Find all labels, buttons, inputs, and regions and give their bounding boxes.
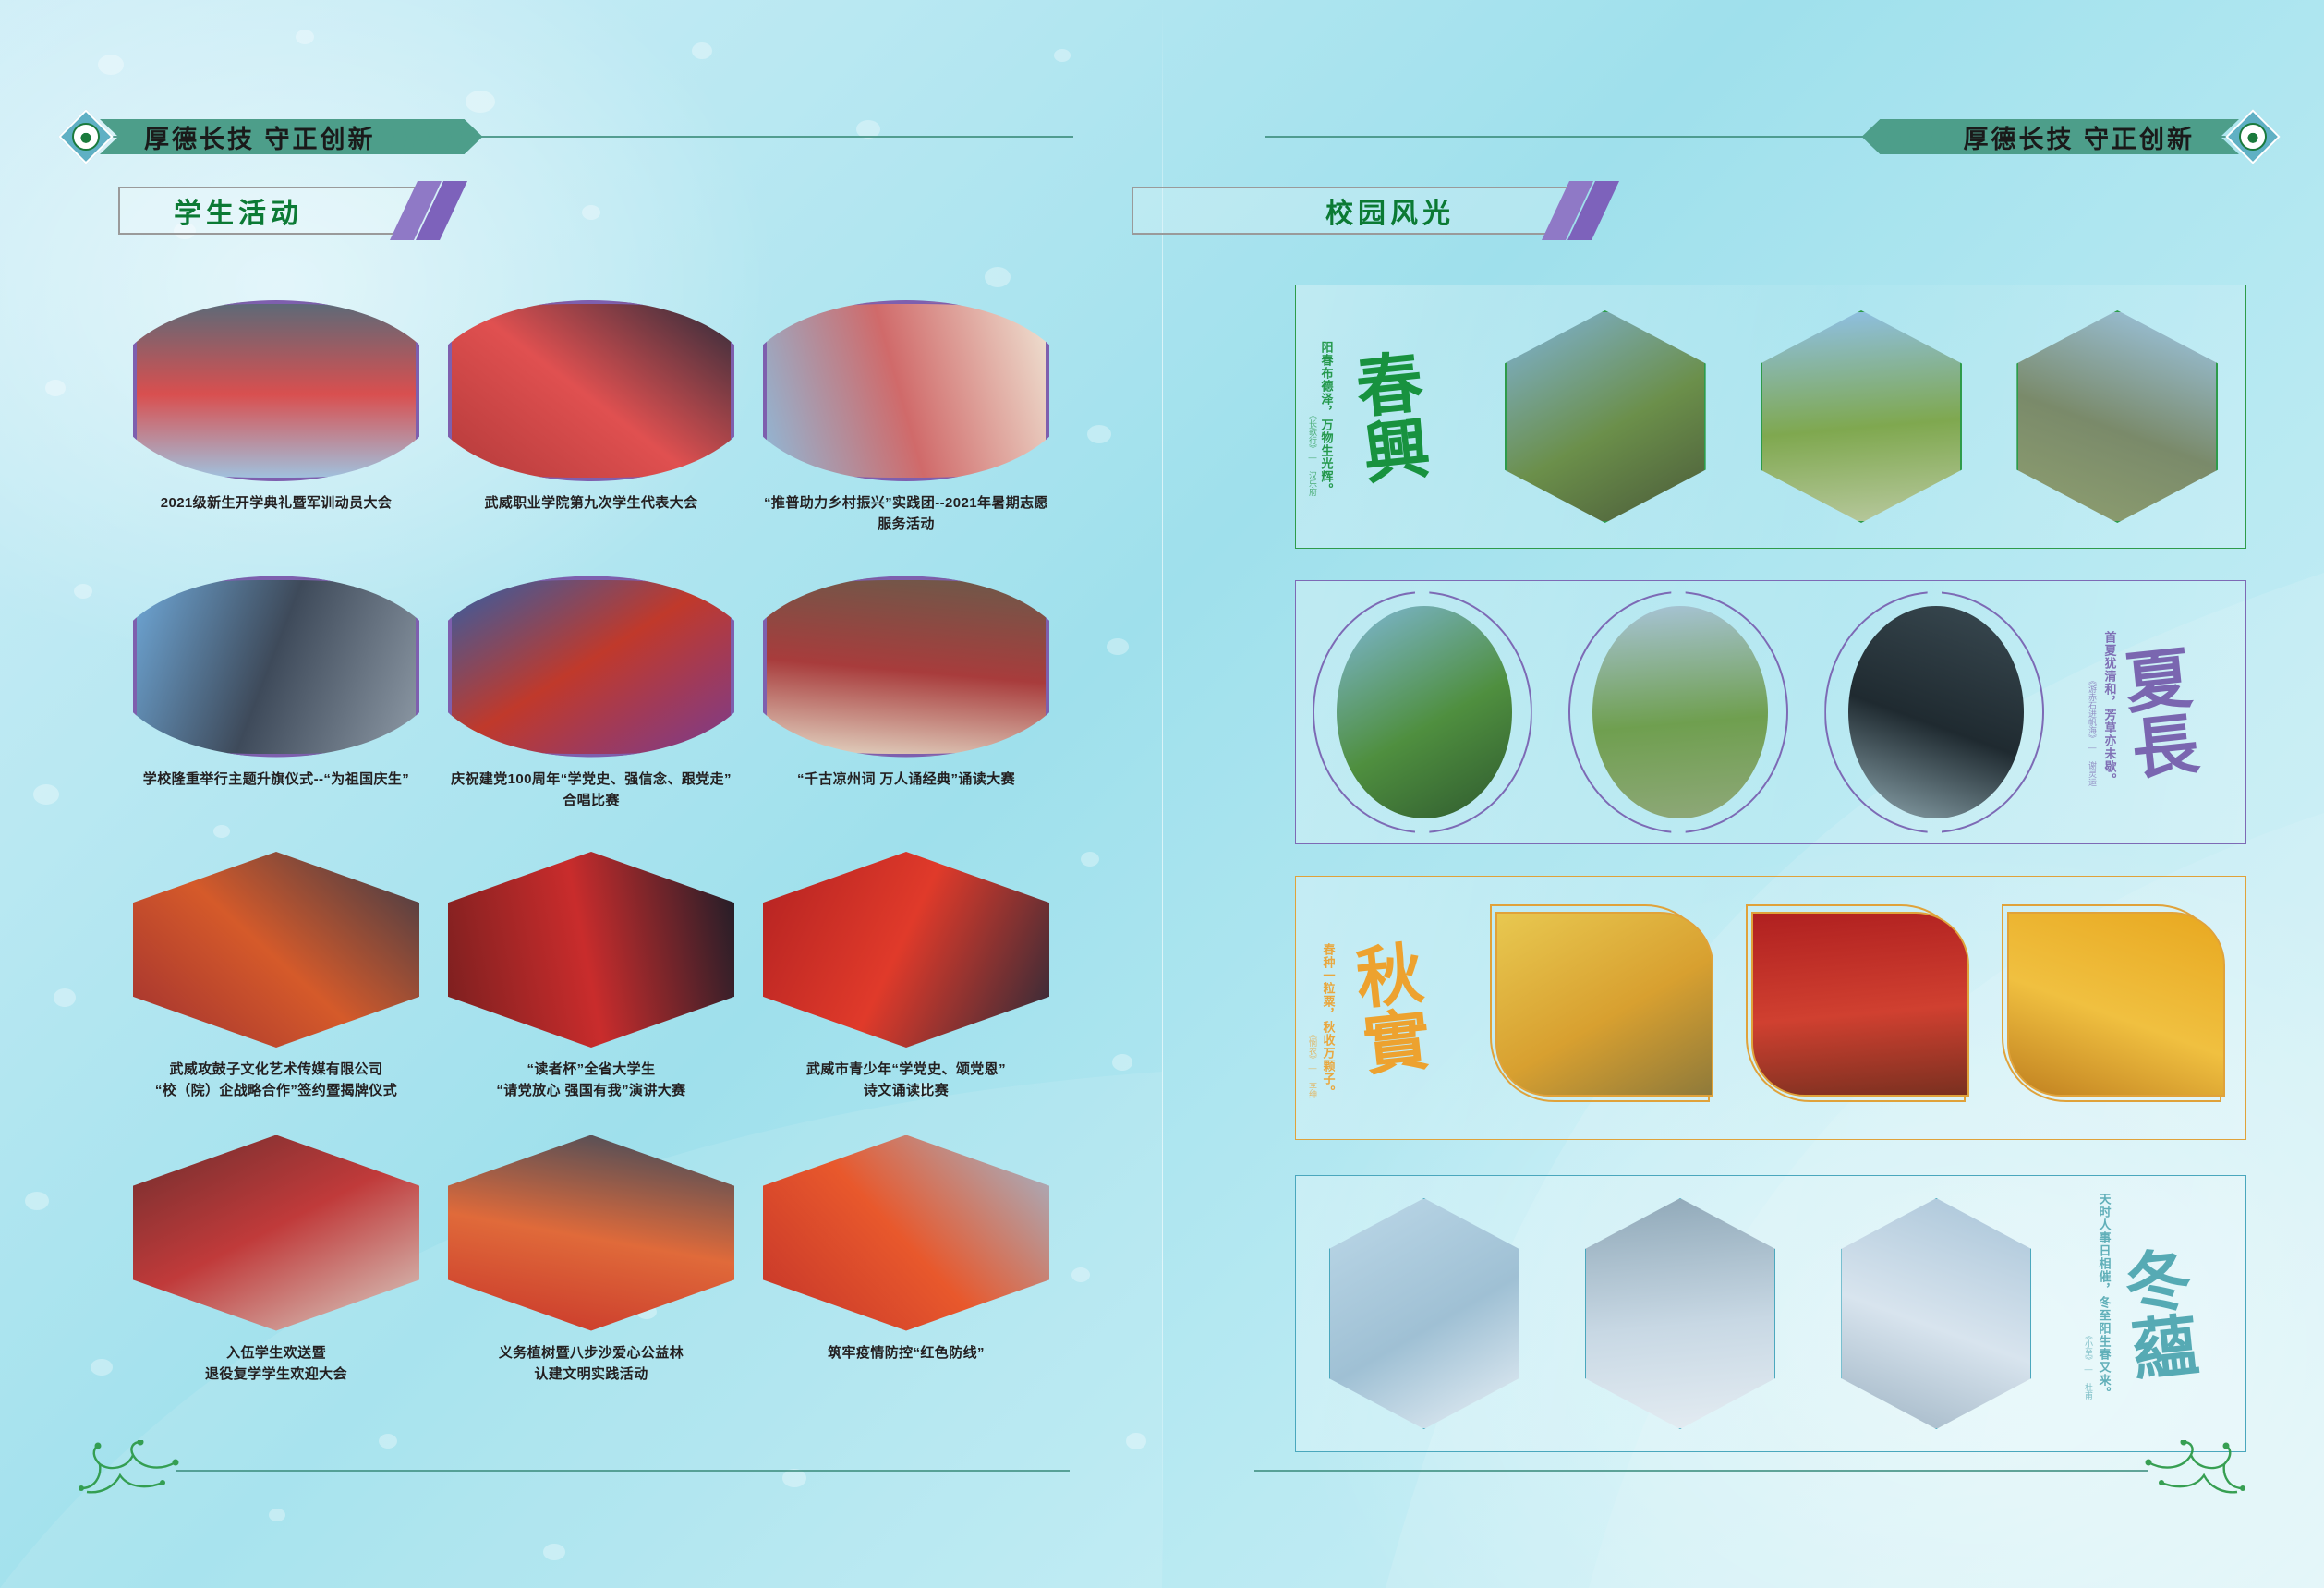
season-panel-inner: 春興阳春布德泽，万物生光辉。《长歌行》— 汉乐府 [1296, 285, 2245, 548]
season-panel-inner: 冬蘊天时人事日相催，冬至阳生春又来。《小至》— 杜甫 [1296, 1176, 2245, 1451]
header-band-left: 厚德长技 守正创新 [100, 119, 483, 154]
season-photo-strip [1296, 581, 2064, 843]
season-calligraphy: 冬蘊天时人事日相催，冬至阳生春又来。《小至》— 杜甫 [2064, 1176, 2245, 1451]
activity-row: 2021级新生开学典礼暨军训动员大会武威职业学院第九次学生代表大会“推普助力乡村… [129, 300, 1053, 536]
activity-card[interactable]: 武威攻鼓子文化艺术传媒有限公司“校（院）企战略合作”签约暨揭牌仪式 [129, 852, 423, 1102]
activity-card[interactable]: 学校隆重举行主题升旗仪式--“为祖国庆生” [129, 576, 423, 812]
activity-caption: “推普助力乡村振兴”实践团--2021年暑期志愿服务活动 [759, 492, 1053, 536]
season-panel-spring: 春興阳春布德泽，万物生光辉。《长歌行》— 汉乐府 [1295, 285, 2246, 549]
caption-line: “读者杯”全省大学生 [496, 1059, 685, 1080]
season-calligraphy: 春興阳春布德泽，万物生光辉。《长歌行》— 汉乐府 [1296, 285, 1477, 548]
season-photo-wrap [2002, 904, 2233, 1111]
footer-rule-right [1254, 1470, 2148, 1472]
season-photo[interactable] [1592, 606, 1768, 818]
page-spine [1162, 0, 1163, 1588]
season-photo-wrap [1490, 904, 1721, 1111]
caption-line: 义务植树暨八步沙爱心公益林 [499, 1342, 684, 1364]
floral-flourish-icon [74, 1440, 185, 1499]
photo-frame [135, 578, 418, 756]
season-panel-summer: 夏長首夏犹清和，芳草亦未歇。《游赤石进帆海》— 谢灵运 [1295, 580, 2246, 844]
activity-card[interactable]: 武威职业学院第九次学生代表大会 [444, 300, 738, 536]
chevron-icon [1865, 119, 1950, 154]
activity-caption: 2021级新生开学典礼暨军训动员大会 [161, 492, 393, 514]
caption-line: 学校隆重举行主题升旗仪式--“为祖国庆生” [143, 769, 409, 790]
caption-line: 庆祝建党100周年“学党史、强信念、跟党走” [451, 769, 732, 790]
season-photo-strip [1296, 1176, 2064, 1451]
activity-photo[interactable] [763, 576, 1049, 758]
header-band-right: 厚德长技 守正创新 [1861, 119, 2239, 154]
caption-line: 合唱比赛 [451, 790, 732, 811]
activity-caption: “读者杯”全省大学生“请党放心 强国有我”演讲大赛 [496, 1059, 685, 1102]
header-right: 厚德长技 守正创新 [1265, 116, 2272, 157]
student-activity-grid: 2021级新生开学典礼暨军训动员大会武威职业学院第九次学生代表大会“推普助力乡村… [129, 300, 1053, 1418]
season-poem: 首夏犹清和，芳草亦未歇。 [2101, 631, 2118, 786]
photo-frame [450, 302, 732, 479]
season-photo[interactable] [1505, 310, 1706, 523]
caption-line: 退役复学学生欢迎大会 [205, 1364, 347, 1385]
section-header-student-activities: 学生活动 [118, 181, 460, 240]
photo-frame [765, 302, 1047, 479]
activity-photo[interactable] [448, 852, 734, 1048]
season-calligraphy: 秋實春种一粒粟，秋收万颗子。《悯农》— 李绅 [1296, 877, 1477, 1139]
season-photo-wrap [1746, 904, 1977, 1111]
activity-photo[interactable] [133, 576, 419, 758]
season-poem-source: 《长歌行》— 汉乐府 [1307, 411, 1319, 496]
activity-card[interactable]: 义务植树暨八步沙爱心公益林认建文明实践活动 [444, 1135, 738, 1386]
activity-caption: 筑牢疫情防控“红色防线” [828, 1342, 985, 1364]
activity-photo[interactable] [763, 300, 1049, 481]
season-title: 夏長 [2115, 643, 2194, 782]
activity-row: 武威攻鼓子文化艺术传媒有限公司“校（院）企战略合作”签约暨揭牌仪式“读者杯”全省… [129, 852, 1053, 1102]
season-photo-wrap [1568, 591, 1792, 833]
season-poem-source: 《游赤石进帆海》— 谢灵运 [2087, 676, 2099, 786]
season-panel-winter: 冬蘊天时人事日相催，冬至阳生春又来。《小至》— 杜甫 [1295, 1175, 2246, 1452]
activity-card[interactable]: “推普助力乡村振兴”实践团--2021年暑期志愿服务活动 [759, 300, 1053, 536]
activity-card[interactable]: “读者杯”全省大学生“请党放心 强国有我”演讲大赛 [444, 852, 738, 1102]
photo-frame [765, 578, 1047, 756]
season-poem-source: 《小至》— 杜甫 [2083, 1331, 2095, 1400]
season-photo[interactable] [1848, 606, 2024, 818]
season-photo-strip [1477, 877, 2245, 1139]
activity-photo[interactable] [448, 300, 734, 481]
season-title: 冬蘊 [2115, 1244, 2194, 1384]
season-panel-autumn: 秋實春种一粒粟，秋收万颗子。《悯农》— 李绅 [1295, 876, 2246, 1140]
section-title-right: 校园风光 [1325, 190, 1455, 231]
activity-card[interactable]: “千古凉州词 万人诵经典”诵读大赛 [759, 576, 1053, 812]
caption-line: 认建文明实践活动 [499, 1364, 684, 1385]
caption-line: 武威职业学院第九次学生代表大会 [484, 492, 697, 514]
header-title-left: 厚德长技 守正创新 [131, 119, 389, 155]
school-seal-icon [58, 109, 113, 164]
photo-frame [135, 302, 418, 479]
season-photo-wrap [1824, 591, 2048, 833]
season-photo[interactable] [1751, 912, 1969, 1097]
activity-card[interactable]: 2021级新生开学典礼暨军训动员大会 [129, 300, 423, 536]
season-title: 春興 [1347, 347, 1425, 487]
season-poem: 天时人事日相催，冬至阳生春又来。 [2096, 1193, 2112, 1400]
activity-photo[interactable] [133, 852, 419, 1048]
activity-caption: 学校隆重举行主题升旗仪式--“为祖国庆生” [143, 769, 409, 790]
activity-caption: “千古凉州词 万人诵经典”诵读大赛 [797, 769, 1015, 790]
activity-caption: 庆祝建党100周年“学党史、强信念、跟党走”合唱比赛 [451, 769, 732, 812]
activity-card[interactable]: 庆祝建党100周年“学党史、强信念、跟党走”合唱比赛 [444, 576, 738, 812]
activity-photo[interactable] [448, 576, 734, 758]
school-seal-icon [2225, 109, 2280, 164]
caption-line: 诗文诵读比赛 [806, 1080, 1006, 1101]
activity-row: 入伍学生欢送暨退役复学学生欢迎大会义务植树暨八步沙爱心公益林认建文明实践活动筑牢… [129, 1135, 1053, 1386]
footer-rule-left [176, 1470, 1070, 1472]
header-title-right: 厚德长技 守正创新 [1950, 119, 2208, 155]
season-photo[interactable] [1841, 1198, 2031, 1429]
season-photo[interactable] [1329, 1198, 1519, 1429]
season-poem: 春种一粒粟，秋收万颗子。 [1320, 943, 1337, 1098]
season-photo[interactable] [2016, 310, 2218, 523]
activity-photo[interactable] [448, 1135, 734, 1331]
caption-line: 武威攻鼓子文化艺术传媒有限公司 [155, 1059, 397, 1080]
section-title-left: 学生活动 [174, 190, 303, 231]
activity-row: 学校隆重举行主题升旗仪式--“为祖国庆生”庆祝建党100周年“学党史、强信念、跟… [129, 576, 1053, 812]
season-photo[interactable] [1495, 912, 1713, 1097]
caption-line: “千古凉州词 万人诵经典”诵读大赛 [797, 769, 1015, 790]
activity-caption: 入伍学生欢送暨退役复学学生欢迎大会 [205, 1342, 347, 1386]
activity-photo[interactable] [133, 1135, 419, 1331]
activity-photo[interactable] [133, 300, 419, 481]
season-calligraphy: 夏長首夏犹清和，芳草亦未歇。《游赤石进帆海》— 谢灵运 [2064, 581, 2245, 843]
activity-caption: 武威攻鼓子文化艺术传媒有限公司“校（院）企战略合作”签约暨揭牌仪式 [155, 1059, 397, 1102]
season-photo[interactable] [1761, 310, 1962, 523]
season-photo[interactable] [2007, 912, 2225, 1097]
chevron-icon [389, 119, 479, 154]
floral-flourish-icon [2139, 1440, 2250, 1499]
caption-line: 武威市青少年“学党史、颂党恩” [806, 1059, 1006, 1080]
header-left: 厚德长技 守正创新 [67, 116, 1073, 157]
caption-line: “推普助力乡村振兴”实践团--2021年暑期志愿服务活动 [759, 492, 1053, 536]
season-photo-strip [1477, 285, 2245, 548]
activity-card[interactable]: 入伍学生欢送暨退役复学学生欢迎大会 [129, 1135, 423, 1386]
caption-line: “校（院）企战略合作”签约暨揭牌仪式 [155, 1080, 397, 1101]
caption-line: “请党放心 强国有我”演讲大赛 [496, 1080, 685, 1101]
season-title: 秋實 [1347, 939, 1425, 1078]
activity-caption: 义务植树暨八步沙爱心公益林认建文明实践活动 [499, 1342, 684, 1386]
activity-caption: 武威市青少年“学党史、颂党恩”诗文诵读比赛 [806, 1059, 1006, 1102]
activity-card[interactable]: 筑牢疫情防控“红色防线” [759, 1135, 1053, 1386]
section-header-campus-scenery: 校园风光 [1270, 181, 1612, 240]
caption-line: 2021级新生开学典礼暨军训动员大会 [161, 492, 393, 514]
activity-caption: 武威职业学院第九次学生代表大会 [484, 492, 697, 514]
photo-frame [450, 578, 732, 756]
season-photo[interactable] [1337, 606, 1512, 818]
season-photo-wrap [1313, 591, 1536, 833]
caption-line: 入伍学生欢送暨 [205, 1342, 347, 1364]
caption-line: 筑牢疫情防控“红色防线” [828, 1342, 985, 1364]
season-photo[interactable] [1585, 1198, 1775, 1429]
season-panel-inner: 夏長首夏犹清和，芳草亦未歇。《游赤石进帆海》— 谢灵运 [1296, 581, 2245, 843]
season-panel-inner: 秋實春种一粒粟，秋收万颗子。《悯农》— 李绅 [1296, 877, 2245, 1139]
activity-card[interactable]: 武威市青少年“学党史、颂党恩”诗文诵读比赛 [759, 852, 1053, 1102]
activity-photo[interactable] [763, 1135, 1049, 1331]
season-poem-source: 《悯农》— 李绅 [1307, 1030, 1319, 1098]
season-poem: 阳春布德泽，万物生光辉。 [1318, 341, 1335, 496]
activity-photo[interactable] [763, 852, 1049, 1048]
